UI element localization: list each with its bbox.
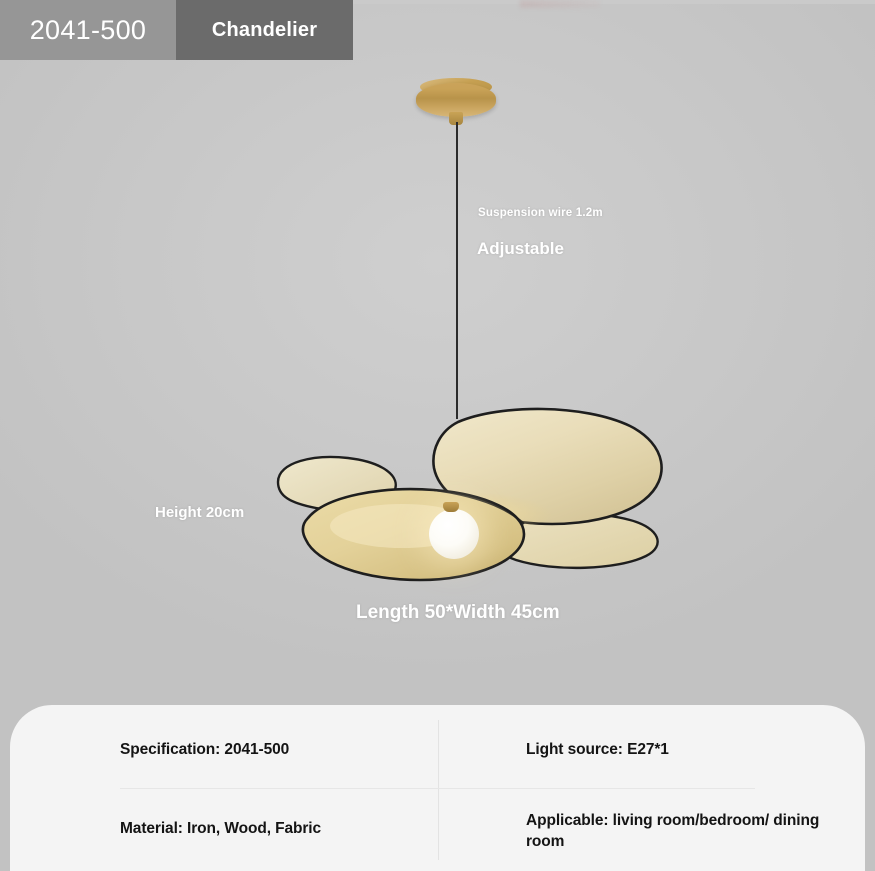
specification-grid: Specification: 2041-500 Light source: E2… xyxy=(10,705,865,871)
label-length-width: Length 50*Width 45cm xyxy=(356,602,560,624)
spec-vertical-divider xyxy=(438,720,439,860)
spec-light-source: Light source: E27*1 xyxy=(526,739,846,760)
label-adjustable: Adjustable xyxy=(477,239,564,259)
label-height: Height 20cm xyxy=(155,504,244,521)
product-tab-bar: 2041-500 Chandelier xyxy=(0,0,353,60)
fabric-shade-icon xyxy=(262,400,672,595)
label-suspension-wire: Suspension wire 1.2m xyxy=(478,207,603,219)
bulb-socket-icon xyxy=(443,502,459,512)
spec-specification: Specification: 2041-500 xyxy=(120,739,420,760)
chandelier-illustration: Suspension wire 1.2m Adjustable Height 2… xyxy=(0,0,875,700)
globe-bulb-icon xyxy=(429,509,479,559)
spec-material: Material: Iron, Wood, Fabric xyxy=(120,818,430,839)
tab-chandelier[interactable]: Chandelier xyxy=(176,0,353,60)
product-detail-image: 2041-500 Chandelier xyxy=(0,0,875,871)
spec-applicable: Applicable: living room/bedroom/ dining … xyxy=(526,810,826,852)
tab-model-code[interactable]: 2041-500 xyxy=(0,0,176,60)
suspension-wire-icon xyxy=(456,122,458,419)
specification-panel: Specification: 2041-500 Light source: E2… xyxy=(10,705,865,871)
spec-horizontal-divider xyxy=(120,788,755,789)
